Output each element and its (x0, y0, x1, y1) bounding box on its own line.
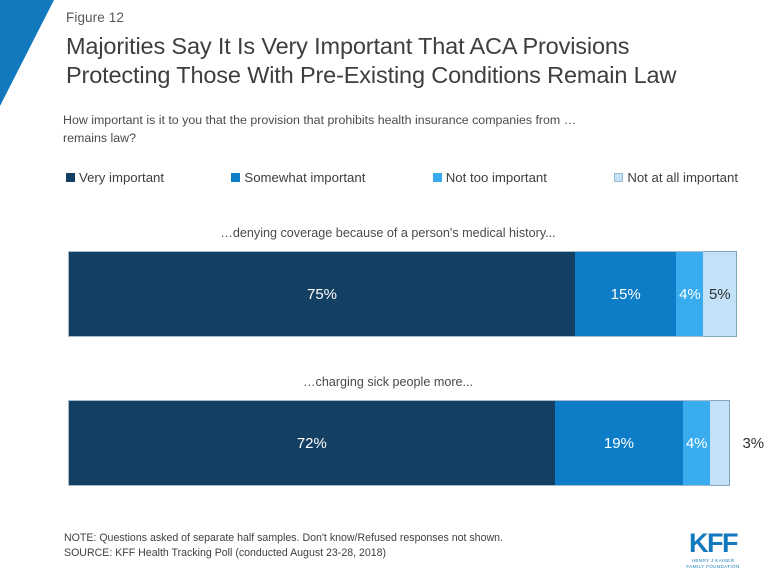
legend-swatch-not-at-all-important-icon (614, 173, 623, 182)
legend-item-3[interactable]: Not at all important (614, 170, 738, 185)
bar-segment-0: 72% (68, 400, 555, 486)
footnotes: NOTE: Questions asked of separate half s… (64, 531, 503, 560)
chart-legend: Very importantSomewhat importantNot too … (66, 170, 738, 185)
bar-segment-value-label-outside: 3% (730, 400, 764, 486)
bar-segment-value-label: 4% (679, 286, 701, 303)
legend-swatch-somewhat-important-icon (231, 173, 240, 182)
footnote-note: NOTE: Questions asked of separate half s… (64, 531, 503, 546)
legend-swatch-very-important-icon (66, 173, 75, 182)
stacked-bar: 72%19%4% (68, 400, 730, 486)
page-subtitle-line-2: remains law? (63, 129, 723, 147)
page-title-line-2: Protecting Those With Pre-Existing Condi… (66, 61, 756, 90)
bar-segment-value-label: 4% (686, 435, 708, 452)
page-subtitle: How important is it to you that the prov… (63, 111, 723, 147)
bar-segment-1: 15% (575, 251, 676, 337)
legend-swatch-not-too-important-icon (433, 173, 442, 182)
figure-label: Figure 12 (66, 10, 124, 25)
legend-item-label: Not too important (446, 170, 547, 185)
bar-segment-3 (710, 400, 730, 486)
chart-group-label: …charging sick people more... (0, 375, 768, 389)
bar-segment-3: 5% (703, 251, 737, 337)
legend-item-label: Very important (79, 170, 164, 185)
stacked-bar: 75%15%4%5% (68, 251, 737, 337)
bar-segment-value-label: 5% (709, 286, 731, 303)
footnote-source: SOURCE: KFF Health Tracking Poll (conduc… (64, 546, 503, 561)
page-title: Majorities Say It Is Very Important That… (66, 32, 756, 90)
legend-item-0[interactable]: Very important (66, 170, 164, 185)
kff-logo-subtitle: HENRY J KAISER FAMILY FOUNDATION (676, 558, 750, 570)
chart-group-denying-coverage: …denying coverage because of a person's … (0, 226, 768, 337)
bar-segment-2: 4% (676, 251, 703, 337)
bar-segment-0: 75% (68, 251, 575, 337)
page-subtitle-line-1: How important is it to you that the prov… (63, 111, 723, 129)
page-title-line-1: Majorities Say It Is Very Important That… (66, 32, 756, 61)
kff-logo: KFF HENRY J KAISER FAMILY FOUNDATION (676, 530, 750, 570)
bar-segment-value-label: 72% (297, 435, 327, 452)
bar-segment-value-label: 19% (604, 435, 634, 452)
bar-segment-value-label: 75% (307, 286, 337, 303)
legend-item-1[interactable]: Somewhat important (231, 170, 365, 185)
kff-logo-mark: KFF (676, 530, 750, 556)
legend-item-label: Not at all important (627, 170, 738, 185)
corner-accent-triangle (0, 0, 54, 106)
stacked-bar-wrapper: 72%19%4% 3% (68, 400, 744, 486)
stacked-bar-wrapper: 75%15%4%5% (68, 251, 744, 337)
legend-item-label: Somewhat important (244, 170, 365, 185)
chart-group-label: …denying coverage because of a person's … (0, 226, 768, 240)
bar-segment-1: 19% (555, 400, 683, 486)
bar-segment-2: 4% (683, 400, 710, 486)
bar-segment-value-label: 15% (611, 286, 641, 303)
kff-logo-subtitle-line-2: FAMILY FOUNDATION (676, 564, 750, 570)
legend-item-2[interactable]: Not too important (433, 170, 547, 185)
chart-group-charging-sick-people: …charging sick people more... 72%19%4% 3… (0, 375, 768, 486)
